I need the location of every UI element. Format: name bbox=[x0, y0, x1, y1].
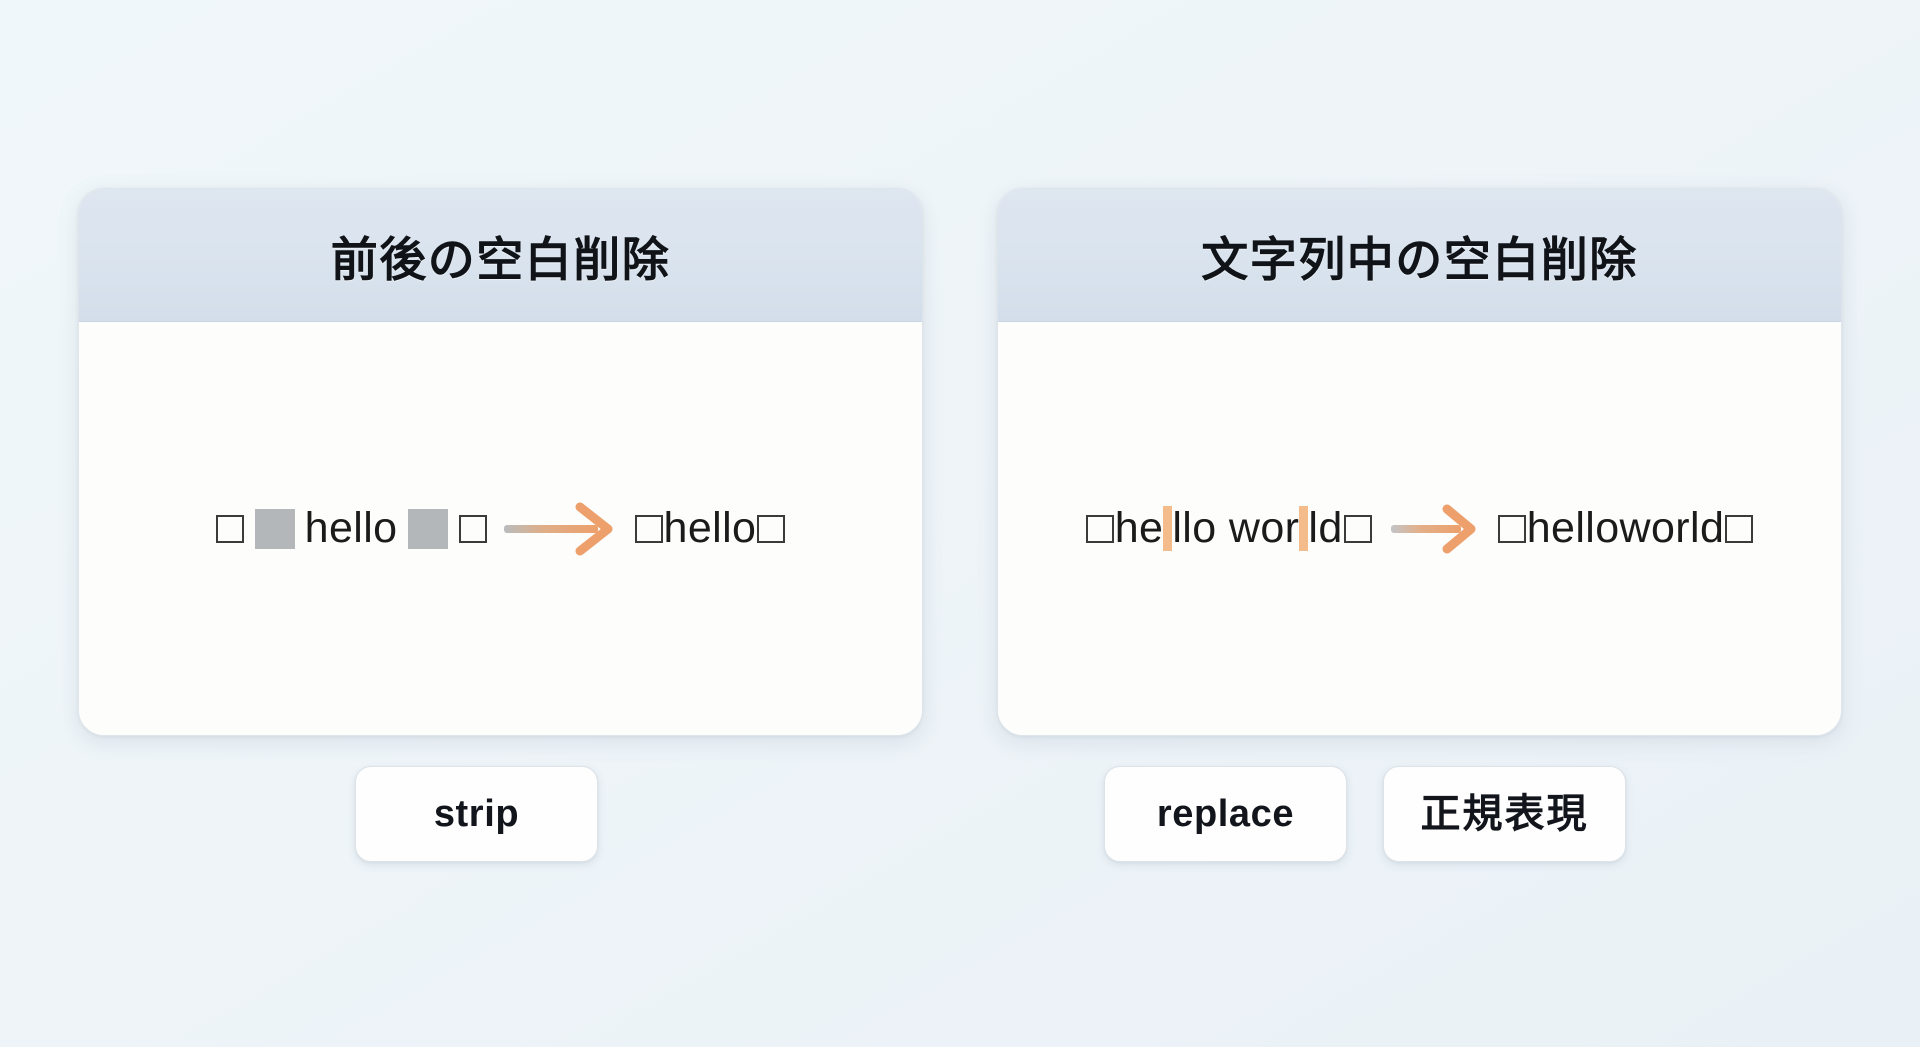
inner-space-after-word: helloworld bbox=[1527, 507, 1725, 550]
card-trim-header: 前後の空白削除 bbox=[79, 189, 922, 322]
empty-box-icon bbox=[757, 515, 785, 543]
inner-space-before-seg-1: he bbox=[1115, 507, 1164, 550]
empty-box-icon bbox=[216, 515, 244, 543]
empty-box-icon bbox=[459, 515, 487, 543]
diagram-canvas: 前後の空白削除 hello bbox=[0, 0, 1920, 1047]
trim-expression: hello bbox=[105, 500, 896, 558]
space-block-icon bbox=[408, 509, 448, 549]
cards-row: 前後の空白削除 hello bbox=[78, 188, 1842, 738]
empty-box-icon bbox=[635, 515, 663, 543]
trim-method-buttons: strip bbox=[355, 766, 598, 862]
card-trim-body: hello bbox=[79, 322, 922, 735]
card-trim-title: 前後の空白削除 bbox=[331, 221, 671, 290]
regex-button-label: 正規表現 bbox=[1421, 794, 1589, 834]
inner-space-before-seg-3: ld bbox=[1308, 507, 1342, 550]
inner-space-before: he llo wor ld bbox=[1085, 506, 1373, 551]
replace-button-label: replace bbox=[1157, 795, 1294, 833]
card-trim: 前後の空白削除 hello bbox=[78, 188, 923, 736]
trim-after: hello bbox=[634, 507, 787, 550]
empty-box-icon bbox=[1086, 515, 1114, 543]
strip-button[interactable]: strip bbox=[355, 766, 598, 862]
card-inner-space-title: 文字列中の空白削除 bbox=[1201, 221, 1638, 290]
arrow-right-icon bbox=[502, 500, 620, 558]
arrow-right-icon bbox=[1389, 500, 1481, 558]
card-inner-space-body: he llo wor ld bbox=[998, 322, 1841, 735]
space-highlight-icon bbox=[1299, 506, 1308, 551]
inner-space-after: helloworld bbox=[1497, 507, 1755, 550]
trim-before: hello bbox=[215, 507, 488, 550]
regex-button[interactable]: 正規表現 bbox=[1383, 766, 1626, 862]
empty-box-icon bbox=[1344, 515, 1372, 543]
inner-space-before-seg-2: llo wor bbox=[1172, 507, 1299, 550]
empty-box-icon bbox=[1498, 515, 1526, 543]
trim-before-word: hello bbox=[305, 507, 398, 550]
trim-after-word: hello bbox=[664, 507, 757, 550]
empty-box-icon bbox=[1725, 515, 1753, 543]
space-block-icon bbox=[255, 509, 295, 549]
strip-button-label: strip bbox=[434, 795, 519, 833]
card-inner-space-header: 文字列中の空白削除 bbox=[998, 189, 1841, 322]
inner-space-expression: he llo wor ld bbox=[1024, 500, 1815, 558]
space-highlight-icon bbox=[1163, 506, 1172, 551]
card-inner-space: 文字列中の空白削除 he llo wor ld bbox=[997, 188, 1842, 736]
replace-button[interactable]: replace bbox=[1104, 766, 1347, 862]
inner-space-method-buttons: replace 正規表現 bbox=[1104, 766, 1626, 862]
